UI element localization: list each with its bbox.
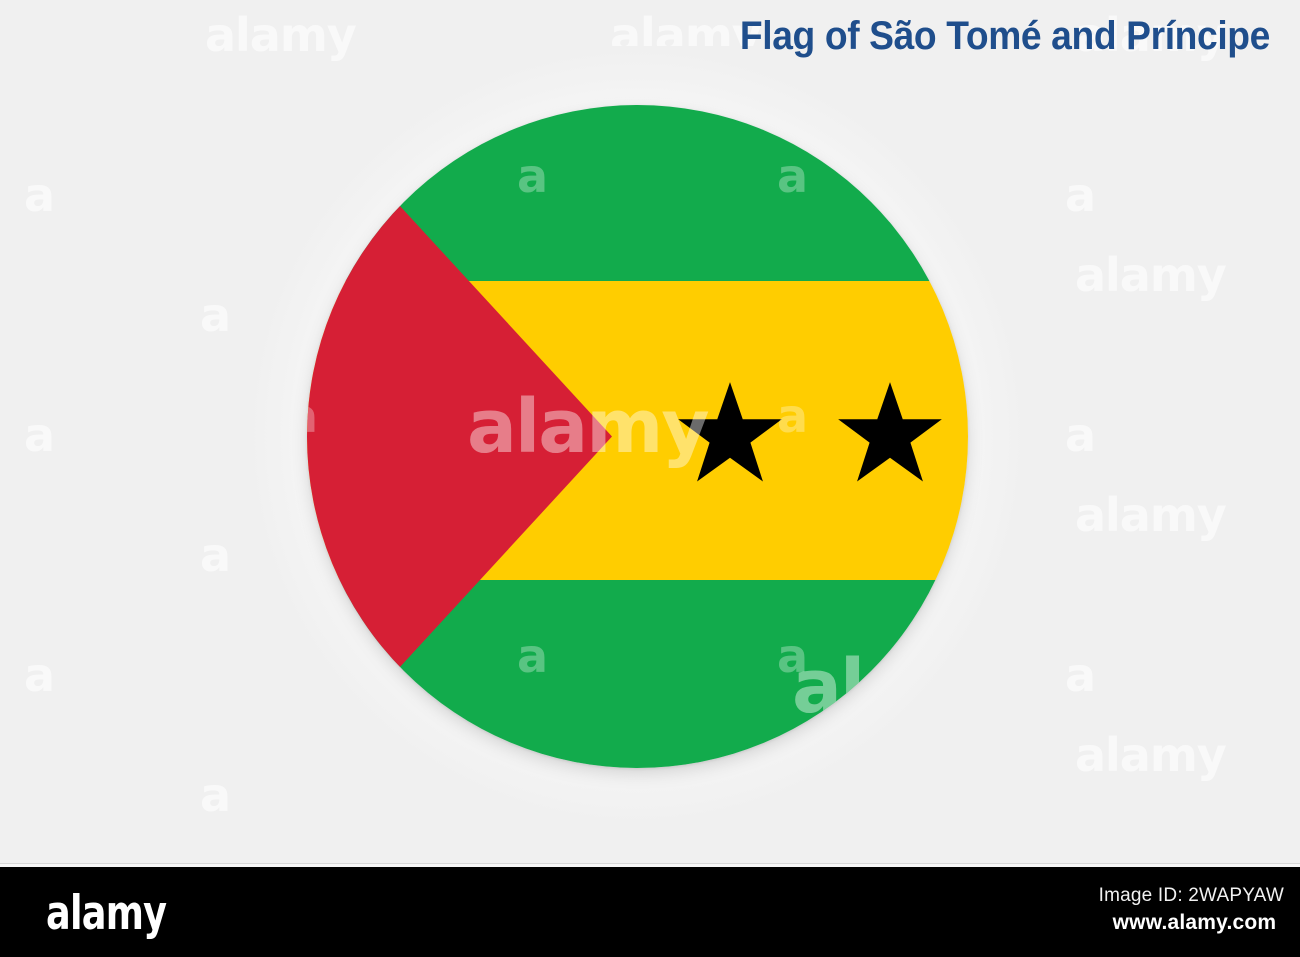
star-right-icon — [836, 380, 944, 488]
star-left-icon — [676, 380, 784, 488]
flag-badge-clip: a a a a a a a a alamy alamy — [307, 105, 968, 768]
image-id-label: Image ID: 2WAPYAW — [1099, 883, 1284, 909]
watermark-word: alamy — [1075, 492, 1226, 538]
watermark-letter: a — [1065, 652, 1096, 698]
watermark-letter: a — [200, 292, 231, 338]
watermark-letter: a — [24, 412, 55, 458]
page-title: Flag of São Tomé and Príncipe — [740, 14, 1270, 59]
watermark-letter: a — [24, 172, 55, 218]
watermark-letter: a — [1065, 172, 1096, 218]
footer-meta: Image ID: 2WAPYAW www.alamy.com — [1099, 883, 1284, 937]
watermark-word: alamy — [1075, 732, 1226, 778]
watermark-word: alamy — [1075, 252, 1226, 298]
screenshot-canvas: a a a a a a a a a a alamy alamy alamy al… — [0, 0, 1300, 957]
alamy-website-link[interactable]: www.alamy.com — [1099, 909, 1284, 937]
watermark-letter: a — [200, 532, 231, 578]
watermark-letter: a — [24, 652, 55, 698]
watermark-word: alamy — [205, 12, 356, 58]
watermark-letter: a — [200, 772, 231, 818]
alamy-logo: alamy — [46, 890, 166, 937]
watermark-letter: a — [1065, 412, 1096, 458]
alamy-footer-bar: alamy Image ID: 2WAPYAW www.alamy.com — [0, 867, 1300, 957]
flag-badge: a a a a a a a a alamy alamy — [307, 105, 968, 768]
